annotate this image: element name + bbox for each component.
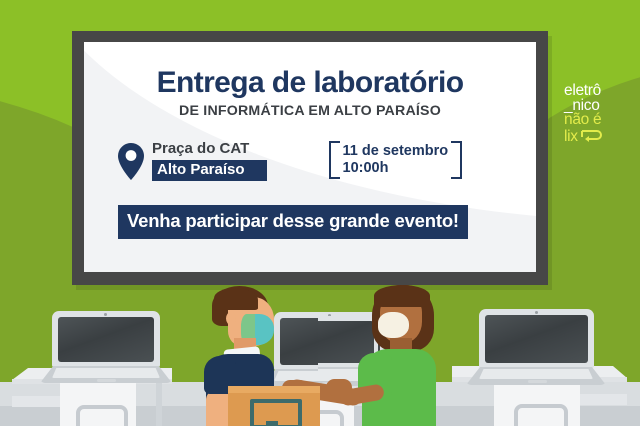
pedestal-left-handle <box>76 405 128 426</box>
call-to-action-banner: Venha participar desse grande evento! <box>118 205 468 239</box>
location-line-1: Praça do CAT <box>152 141 267 158</box>
laptop-right-camera-icon <box>535 311 538 314</box>
desk-left-leg <box>156 382 162 426</box>
box-monitor-stand <box>266 421 278 426</box>
laptop-left <box>40 311 172 383</box>
page-subtitle: DE INFORMÁTICA EM ALTO PARAÍSO <box>112 103 508 119</box>
brand-logo: eletrô _nico não é lix <box>564 84 632 146</box>
pedestal-left-shade <box>12 396 60 407</box>
location-block: Praça do CAT Alto Paraíso <box>118 141 267 185</box>
logo-line-4-text: lix <box>564 130 578 145</box>
pedestal-right-shade <box>580 394 627 405</box>
logo-line-3: não é <box>564 113 632 128</box>
laptop-left-camera-icon <box>104 313 107 316</box>
laptop-right-trackpad <box>528 380 547 383</box>
date-line-2: 10:00h <box>343 160 449 177</box>
woman-face-mask <box>378 312 409 338</box>
pedestal-right-handle <box>514 404 568 426</box>
woman-hand <box>326 379 352 396</box>
location-line-2: Alto Paraíso <box>152 160 267 182</box>
board-surface: Entrega de laboratório DE INFORMÁTICA EM… <box>84 42 536 272</box>
map-pin-icon <box>118 143 144 185</box>
laptop-right <box>466 309 606 385</box>
laptop-left-screen <box>58 317 154 362</box>
poster-image: eletrô _nico não é lix Entrega de labora… <box>0 0 640 426</box>
bracket-right-icon <box>451 141 462 179</box>
laptop-left-trackpad <box>97 379 116 382</box>
presentation-board: Entrega de laboratório DE INFORMÁTICA EM… <box>72 31 548 285</box>
location-text: Praça do CAT Alto Paraíso <box>152 141 267 181</box>
man-hair-front <box>214 288 258 310</box>
laptop-right-keyboard <box>479 369 593 379</box>
event-info-row: Praça do CAT Alto Paraíso 11 de setembro… <box>112 141 508 185</box>
recycle-arrow-icon <box>579 128 605 147</box>
page-title: Entrega de laboratório <box>112 68 508 98</box>
man-ear <box>226 312 236 325</box>
woman-hair-fringe <box>374 285 430 307</box>
cardboard-box <box>228 386 320 426</box>
logo-line-4: lix <box>564 128 632 147</box>
date-line-1: 11 de setembro <box>343 143 449 160</box>
date-block: 11 de setembro 10:00h <box>329 141 463 179</box>
board-content: Entrega de laboratório DE INFORMÁTICA EM… <box>84 42 536 272</box>
bracket-left-icon <box>329 141 340 179</box>
laptop-left-keyboard <box>52 368 160 378</box>
woman-at-laptop <box>360 283 460 426</box>
laptop-right-screen <box>485 315 588 363</box>
